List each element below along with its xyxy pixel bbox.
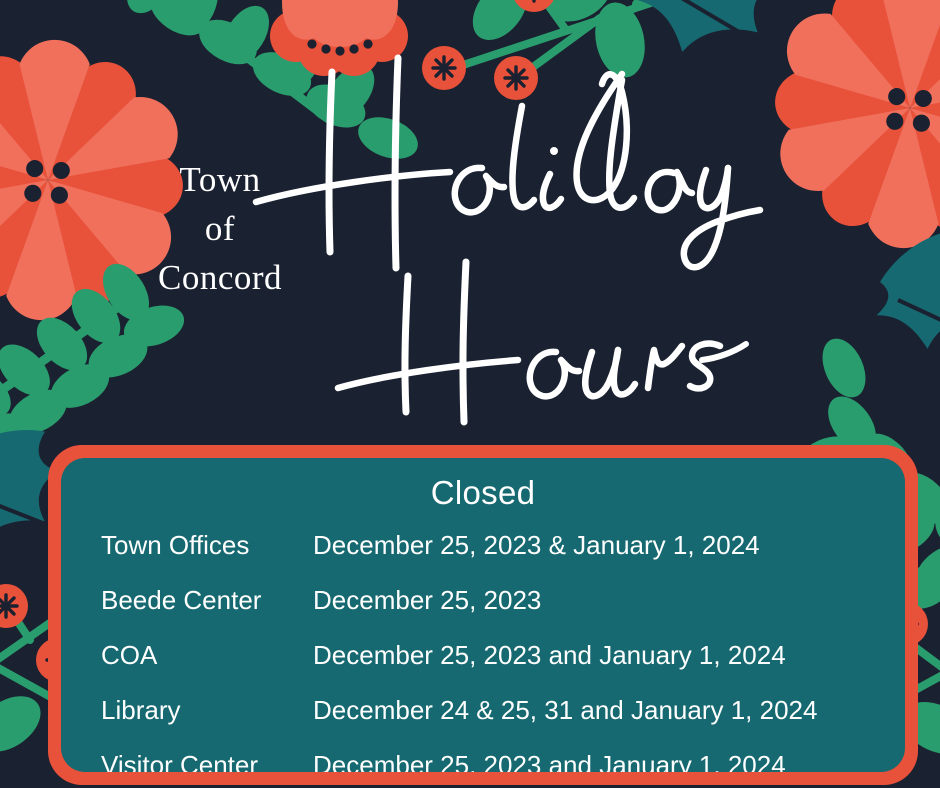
table-row: COADecember 25, 2023 and January 1, 2024 xyxy=(61,628,905,683)
closed-panel-inner: Closed Town OfficesDecember 25, 2023 & J… xyxy=(61,458,905,772)
closure-table: Town OfficesDecember 25, 2023 & January … xyxy=(61,518,905,772)
table-row: Visitor CenterDecember 25, 2023 and Janu… xyxy=(61,738,905,772)
closure-dates: December 25, 2023 & January 1, 2024 xyxy=(313,518,905,573)
closure-dates: December 25, 2023 and January 1, 2024 xyxy=(313,628,905,683)
closed-panel: Closed Town OfficesDecember 25, 2023 & J… xyxy=(48,445,918,785)
closure-table-body: Town OfficesDecember 25, 2023 & January … xyxy=(61,518,905,772)
closure-dates: December 25, 2023 and January 1, 2024 xyxy=(313,738,905,772)
table-row: Beede CenterDecember 25, 2023 xyxy=(61,573,905,628)
table-row: LibraryDecember 24 & 25, 31 and January … xyxy=(61,683,905,738)
closed-heading: Closed xyxy=(61,474,905,512)
department-name: Library xyxy=(61,683,313,738)
department-name: Beede Center xyxy=(61,573,313,628)
closure-dates: December 25, 2023 xyxy=(313,573,905,628)
holiday-hours-poster: Town of Concord Holiday xyxy=(0,0,940,788)
department-name: Visitor Center xyxy=(61,738,313,772)
department-name: Town Offices xyxy=(61,518,313,573)
table-row: Town OfficesDecember 25, 2023 & January … xyxy=(61,518,905,573)
script-title: Holiday xyxy=(250,40,810,440)
poster-heading: Town of Concord Holiday xyxy=(0,0,940,445)
department-name: COA xyxy=(61,628,313,683)
closure-dates: December 24 & 25, 31 and January 1, 2024 xyxy=(313,683,905,738)
